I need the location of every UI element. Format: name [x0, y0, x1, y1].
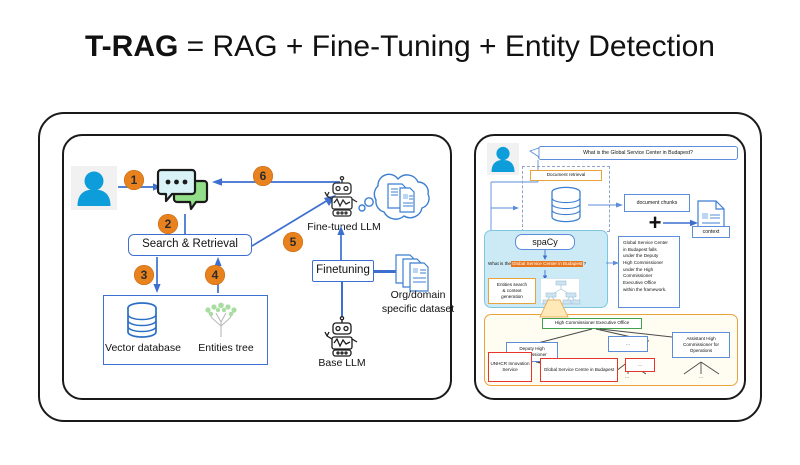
org-dataset-icon [392, 253, 438, 293]
tree-node-global-service-centre: Global Service Centre in Budapest [540, 358, 618, 382]
base-llm-label: Base LLM [303, 357, 381, 369]
step-badge-6: 6 [253, 166, 273, 186]
org-dataset-label-line2: specific dataset [370, 303, 466, 317]
tree-callout-pointer [534, 300, 574, 318]
title-bold: T-RAG [85, 30, 178, 63]
context-label: context [692, 226, 730, 238]
tree-node-unhcr-label: UNHCR Innovation Service [489, 361, 531, 373]
answer-line-8: within the framework. [623, 287, 666, 294]
tree-node-ellipsis-1: ... [625, 358, 655, 372]
search-retrieval-box[interactable]: Search & Retrieval [128, 234, 252, 256]
answer-line-1: Global Service Center [623, 240, 668, 247]
step-badge-2: 2 [158, 214, 178, 234]
query-entity-highlight: Global Service Center in Budapest [511, 261, 583, 267]
arrow-db-to-chunks [588, 200, 624, 210]
answer-line-6: Commissioner [623, 273, 652, 280]
base-llm-robot-icon [324, 316, 360, 358]
entities-search-line3: generation [501, 294, 523, 300]
answer-box: Global Service Center in Budapest falls … [618, 236, 680, 308]
query-prefix: What is the [488, 261, 511, 267]
org-dataset-label: Org/domain specific dataset [370, 289, 466, 316]
knowledge-cloud-icon [358, 166, 436, 228]
plus-operator: + [645, 212, 665, 236]
tree-node-middle-ellipsis: ... [608, 336, 648, 352]
step-badge-3: 3 [134, 265, 154, 285]
document-retrieval-label: Document retrieval [530, 170, 602, 181]
fine-tuned-llm-robot-icon [324, 176, 360, 218]
query-suffix: ? [583, 261, 586, 267]
tree-node-gsc-label: Global Service Centre in Budapest [544, 367, 614, 373]
left-user-icon [71, 166, 117, 210]
connector-finetuning-basellm [341, 282, 343, 316]
arrow-finetuning-to-llm [334, 226, 348, 262]
vector-database-label: Vector database [104, 342, 182, 354]
answer-line-2: in Budapest falls [623, 247, 657, 254]
vector-database-icon [123, 302, 161, 338]
answer-line-7: Executive Office [623, 280, 656, 287]
title-rest: = RAG + Fine-Tuning + Entity Detection [178, 30, 715, 63]
entities-tree-label: Entities tree [190, 342, 262, 354]
tree-node-assistant-high-commissioner: Assistant High Commissioner for Operatio… [672, 332, 730, 358]
answer-line-3: under the Deputy [623, 253, 658, 260]
bubble-tail [530, 148, 540, 158]
page-title: T-RAG = RAG + Fine-Tuning + Entity Detec… [0, 30, 800, 64]
arrow-llm-to-chat [212, 175, 340, 189]
tree-node-assistant-label: Assistant High Commissioner for Operatio… [673, 336, 729, 353]
tree-node-unhcr-innovation-service: UNHCR Innovation Service [488, 352, 532, 382]
retrieval-database-icon [546, 186, 586, 226]
org-dataset-label-line1: Org/domain [370, 289, 466, 303]
step-badge-5: 5 [283, 232, 303, 252]
step-badge-1: 1 [124, 170, 144, 190]
tree-root-node: High Commissioner Executive Office [542, 318, 642, 329]
user-question-bubble: What is the Global Service Center in Bud… [538, 146, 738, 160]
entities-tree-icon [200, 302, 242, 338]
spacy-query-line: What is the Global Service Center in Bud… [488, 258, 606, 270]
tree-node-ellipsis-3: ... [686, 374, 716, 380]
tree-node-ellipsis-2: ... [612, 374, 642, 380]
step-badge-4: 4 [205, 265, 225, 285]
chat-bubbles-icon [155, 165, 213, 215]
answer-line-5: under the High [623, 267, 653, 274]
spacy-label: spaCy [515, 234, 575, 250]
entities-search-box: Entities search & context generation [488, 278, 536, 304]
finetuning-box[interactable]: Finetuning [312, 260, 374, 282]
answer-line-4: High Commissioner [623, 260, 663, 267]
